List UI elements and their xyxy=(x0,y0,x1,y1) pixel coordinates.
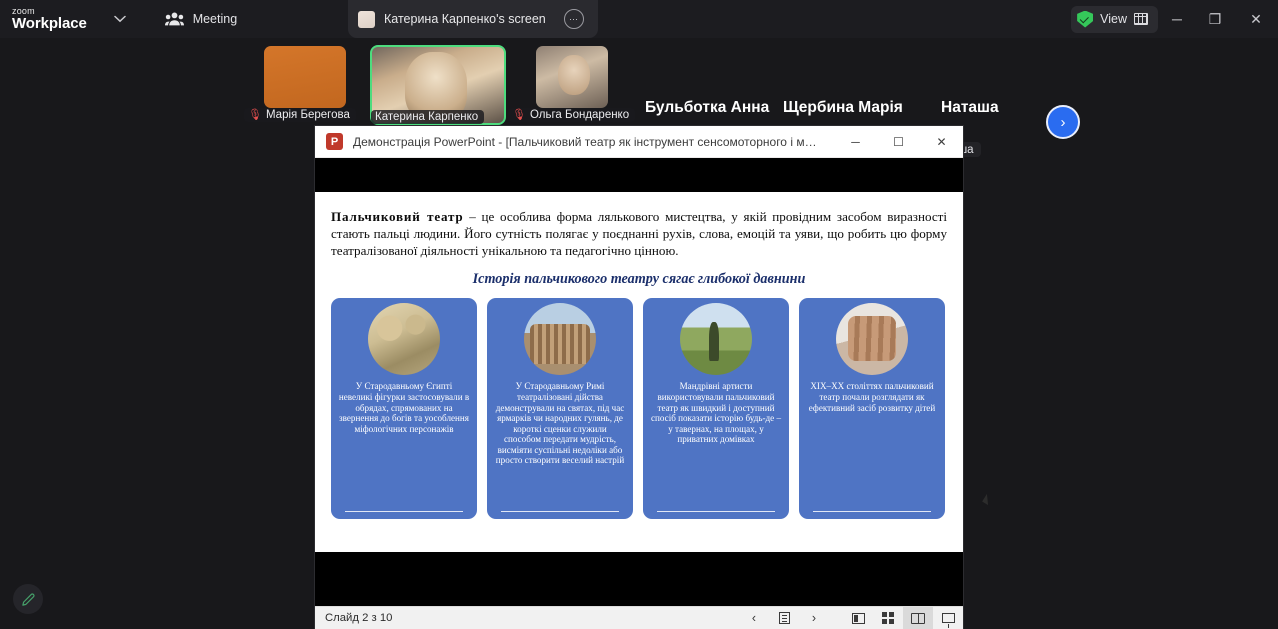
slide-canvas[interactable]: Пальчиковий театр – це особлива форма ля… xyxy=(315,192,963,552)
zoom-meeting-window: zoom Workplace Meeting Катерина Карпенко… xyxy=(0,0,1278,629)
slide-card-text-0: У Стародавньому Єгипті невеликі фігурки … xyxy=(331,375,477,434)
mic-muted-icon: 🎙 xyxy=(512,110,526,121)
screen-share-thumbnail xyxy=(358,11,375,28)
annotate-pencil-button[interactable] xyxy=(13,584,43,614)
participant-name-badge-2: 🎙 Ольга Бондаренко xyxy=(508,108,635,122)
chevron-down-icon[interactable] xyxy=(109,8,131,30)
reading-view-icon[interactable] xyxy=(903,607,933,629)
card-underline xyxy=(657,511,775,513)
slide-card-text-1: У Стародавньому Римі театралізовані дійс… xyxy=(487,375,633,465)
view-label: View xyxy=(1100,12,1127,26)
slide-card-0: У Стародавньому Єгипті невеликі фігурки … xyxy=(331,298,477,519)
shared-screen-tab[interactable]: Катерина Карпенко's screen ⋯ xyxy=(348,0,598,38)
participant-name-0: Марія Берегова xyxy=(266,109,350,121)
participant-name-badge-1: Катерина Карпенко xyxy=(371,110,484,124)
encryption-shield-icon xyxy=(1077,11,1093,28)
mic-muted-icon: 🎙 xyxy=(248,110,262,121)
powerpoint-slide-area: Пальчиковий театр – це особлива форма ля… xyxy=(315,158,963,629)
powerpoint-title-bar: P Демонстрація PowerPoint - [Пальчиковий… xyxy=(315,126,963,158)
status-bar-icons: ‹ › xyxy=(739,607,963,629)
slide-card-text-2: Мандрівні артисти використовували пальчи… xyxy=(643,375,789,444)
participant-name-badge-0: 🎙 Марія Берегова xyxy=(244,108,356,122)
zoom-top-bar: zoom Workplace Meeting Катерина Карпенко… xyxy=(0,0,1278,38)
slideshow-view-icon[interactable] xyxy=(933,607,963,629)
people-icon xyxy=(165,12,184,26)
more-options-icon[interactable]: ⋯ xyxy=(564,9,584,29)
powerpoint-app-icon: P xyxy=(326,133,343,150)
meeting-tab-label: Meeting xyxy=(193,12,237,26)
participant-name-large-0: Бульботка Анна xyxy=(645,99,769,117)
minimize-button[interactable]: ─ xyxy=(1158,0,1196,38)
wandering-artists-photo-icon xyxy=(680,303,752,375)
slide-card-2: Мандрівні артисти використовували пальчи… xyxy=(643,298,789,519)
colosseum-rome-photo-icon xyxy=(524,303,596,375)
slide-intro-bold: Пальчиковий театр xyxy=(331,209,463,224)
normal-view-icon[interactable] xyxy=(843,607,873,629)
powerpoint-close-button[interactable]: ✕ xyxy=(920,126,963,158)
brand-line-2: Workplace xyxy=(12,16,87,31)
participant-face-2 xyxy=(558,55,590,95)
shared-screen-title: Катерина Карпенко's screen xyxy=(384,12,546,26)
meeting-tab[interactable]: Meeting xyxy=(157,5,245,33)
slide-cards-row: У Стародавньому Єгипті невеликі фігурки … xyxy=(315,288,963,519)
participant-strip: 🎙 Марія Берегова Катерина Карпенко 🎙 Оль… xyxy=(0,38,1278,125)
slide-text-block: Пальчиковий театр – це особлива форма ля… xyxy=(315,192,963,288)
close-button[interactable]: ✕ xyxy=(1234,0,1278,38)
participant-name-large-1: Щербина Марія xyxy=(783,99,903,117)
slide-sorter-view-icon[interactable] xyxy=(873,607,903,629)
chevron-down-glyph xyxy=(114,15,126,23)
slide-thumbnail-icon[interactable] xyxy=(769,607,799,629)
slide-intro-paragraph: Пальчиковий театр – це особлива форма ля… xyxy=(331,208,947,259)
next-participants-page-button[interactable]: › xyxy=(1046,105,1080,139)
powerpoint-maximize-button[interactable]: ☐ xyxy=(877,126,920,158)
participant-name-2: Ольга Бондаренко xyxy=(530,109,629,121)
painted-hands-child-photo-icon xyxy=(836,303,908,375)
powerpoint-window-controls: ─ ☐ ✕ xyxy=(834,126,963,158)
slide-subheading: Історія пальчикового театру сягає глибок… xyxy=(331,271,947,288)
powerpoint-minimize-button[interactable]: ─ xyxy=(834,126,877,158)
powerpoint-window-title: Демонстрація PowerPoint - [Пальчиковий т… xyxy=(353,135,823,149)
previous-slide-button[interactable]: ‹ xyxy=(739,607,769,629)
participant-name-large-2: Наташа xyxy=(941,99,999,117)
view-selector-button[interactable]: View xyxy=(1071,6,1158,33)
powerpoint-shared-window: P Демонстрація PowerPoint - [Пальчиковий… xyxy=(315,126,963,629)
window-controls-group: View ─ ❐ ✕ xyxy=(1071,0,1278,38)
ancient-egypt-figurines-photo-icon xyxy=(368,303,440,375)
participant-video-2 xyxy=(536,46,608,108)
slide-counter-label: Слайд 2 з 10 xyxy=(325,612,392,624)
slide-card-3: XIX–XX століттях пальчиковий театр почал… xyxy=(799,298,945,519)
slide-card-1: У Стародавньому Римі театралізовані дійс… xyxy=(487,298,633,519)
participant-video-0 xyxy=(264,46,346,108)
participant-tile-0[interactable]: 🎙 Марія Берегова xyxy=(264,46,346,108)
participant-tile-2[interactable]: 🎙 Ольга Бондаренко xyxy=(536,46,608,108)
restore-button[interactable]: ❐ xyxy=(1196,0,1234,38)
card-underline xyxy=(345,511,463,513)
slide-card-text-3: XIX–XX століттях пальчиковий театр почал… xyxy=(799,375,945,413)
next-slide-button[interactable]: › xyxy=(799,607,829,629)
mouse-cursor-icon xyxy=(982,494,993,505)
powerpoint-status-bar: Слайд 2 з 10 ‹ › xyxy=(315,606,963,629)
card-underline xyxy=(501,511,619,513)
pencil-icon xyxy=(21,592,36,607)
zoom-workplace-logo: zoom Workplace xyxy=(12,7,87,31)
participant-tile-1[interactable]: Катерина Карпенко xyxy=(371,46,505,124)
participant-name-1: Катерина Карпенко xyxy=(375,111,478,123)
layout-grid-icon xyxy=(1134,13,1148,25)
card-underline xyxy=(813,511,931,513)
